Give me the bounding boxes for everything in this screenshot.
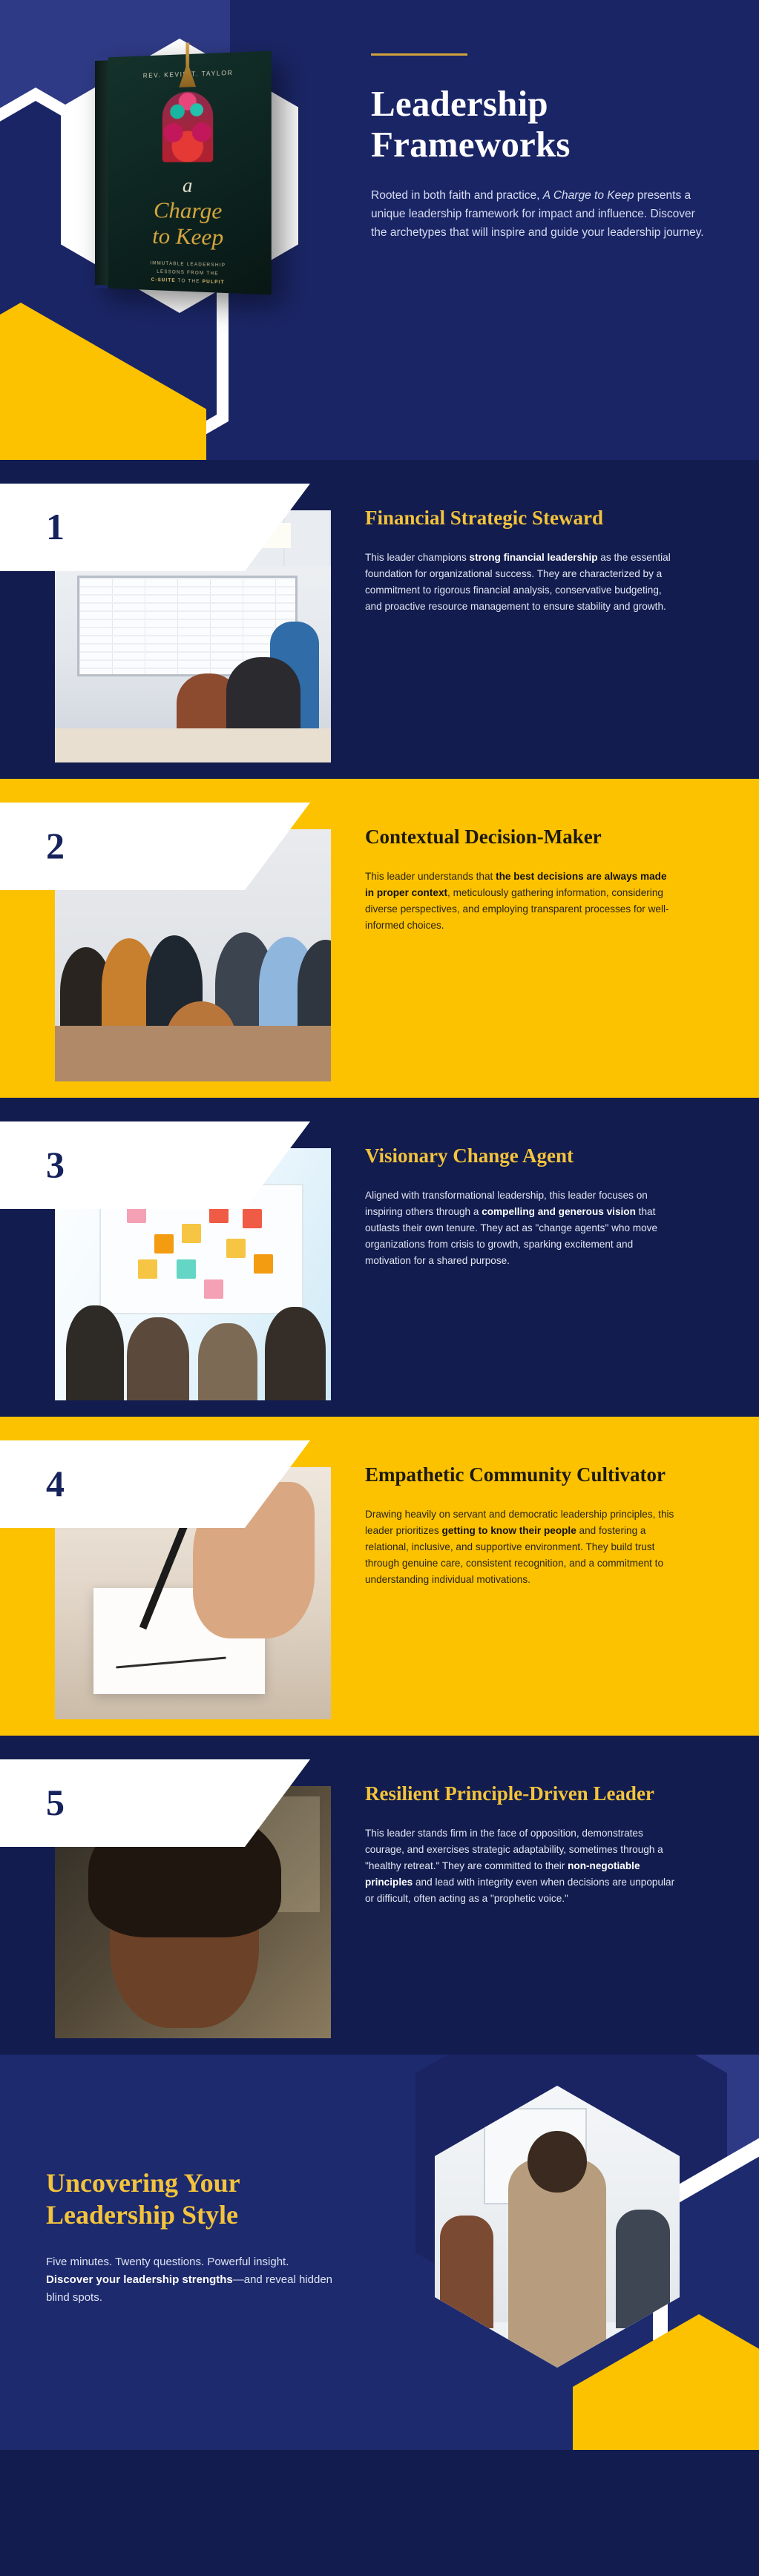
section-4-body: Drawing heavily on servant and democrati… (365, 1506, 677, 1588)
book-subtitle-csuite: C-SUITE (151, 277, 176, 283)
footer-body-pre: Five minutes. Twenty questions. Powerful… (46, 2256, 289, 2268)
book-title-line-1: Charge (154, 199, 222, 224)
book-subtitle-pulpit: PULPIT (203, 280, 225, 285)
footer-cta-section: Uncovering Your Leadership Style Five mi… (0, 2055, 759, 2450)
section-1-visual: 1 (0, 460, 349, 779)
page-title: Leadership Frameworks (371, 84, 720, 165)
section-2-number: 2 (46, 827, 65, 864)
section-4-visual: 4 (0, 1417, 349, 1736)
section-1-number: 1 (46, 508, 65, 545)
section-2-body: This leader understands that the best de… (365, 869, 677, 934)
footer-body-emphasis: Discover your leadership strengths (46, 2273, 233, 2286)
book-subtitle-line-1: IMMUTABLE LEADERSHIP (150, 261, 226, 268)
book-title-line-2: to Keep (152, 224, 223, 250)
hero-text-column: Leadership Frameworks Rooted in both fai… (371, 53, 720, 242)
section-2-body-pre: This leader understands that (365, 871, 496, 882)
book-subtitle-connector: TO THE (176, 278, 203, 284)
section-5-body: This leader stands firm in the face of o… (365, 1825, 677, 1907)
section-5-number: 5 (46, 1784, 65, 1821)
framework-section-1: 1 Financial Strategic Steward This leade… (0, 460, 759, 779)
hero-lead-paragraph: Rooted in both faith and practice, A Cha… (371, 186, 706, 242)
section-4-content: Empathetic Community Cultivator Drawing … (349, 1417, 759, 1736)
framework-section-3: 3 Visionary Change Agent Aligned with tr… (0, 1098, 759, 1417)
footer-title: Uncovering Your Leadership Style (46, 2167, 365, 2231)
book-title-article: a (183, 174, 192, 197)
section-3-visual: 3 (0, 1098, 349, 1417)
section-2-content: Contextual Decision-Maker This leader un… (349, 779, 759, 1098)
section-3-body: Aligned with transformational leadership… (365, 1187, 677, 1269)
section-3-number: 3 (46, 1146, 65, 1183)
hero-lead-book-title: A Charge to Keep (543, 189, 634, 202)
footer-text-column: Uncovering Your Leadership Style Five mi… (46, 2167, 365, 2307)
framework-section-2: 2 Contextual Decision-Maker This leader … (0, 779, 759, 1098)
book-cover-image: REV. KEVIN T. TAYLOR a Charge to Keep IM… (95, 51, 272, 295)
hero-section: REV. KEVIN T. TAYLOR a Charge to Keep IM… (0, 0, 759, 460)
book-subtitle: IMMUTABLE LEADERSHIP LESSONS FROM THE C-… (150, 260, 226, 287)
footer-body: Five minutes. Twenty questions. Powerful… (46, 2253, 337, 2307)
stained-glass-icon (162, 91, 213, 162)
section-3-title: Visionary Change Agent (365, 1144, 714, 1168)
section-3-content: Visionary Change Agent Aligned with tran… (349, 1098, 759, 1417)
section-3-body-emphasis: compelling and generous vision (482, 1206, 636, 1217)
section-5-title: Resilient Principle-Driven Leader (365, 1782, 714, 1806)
section-1-body: This leader champions strong financial l… (365, 550, 677, 615)
section-1-title: Financial Strategic Steward (365, 506, 714, 530)
framework-section-4: 4 Empathetic Community Cultivator Drawin… (0, 1417, 759, 1736)
gold-rule-divider (371, 53, 467, 56)
section-4-body-emphasis: getting to know their people (442, 1525, 576, 1536)
section-1-body-emphasis: strong financial leadership (470, 552, 598, 563)
section-1-content: Financial Strategic Steward This leader … (349, 460, 759, 779)
section-5-visual: 5 (0, 1736, 349, 2055)
book-front-face: REV. KEVIN T. TAYLOR a Charge to Keep IM… (108, 51, 272, 295)
hero-lead-pre: Rooted in both faith and practice, (371, 189, 543, 202)
section-2-title: Contextual Decision-Maker (365, 825, 714, 849)
infographic-page: REV. KEVIN T. TAYLOR a Charge to Keep IM… (0, 0, 759, 2576)
framework-section-5: 5 Resilient Principle-Driven Leader This… (0, 1736, 759, 2055)
section-5-content: Resilient Principle-Driven Leader This l… (349, 1736, 759, 2055)
section-4-number: 4 (46, 1465, 65, 1502)
section-1-body-pre: This leader champions (365, 552, 470, 563)
section-2-visual: 2 (0, 779, 349, 1098)
book-subtitle-line-2: LESSONS FROM THE (157, 270, 218, 277)
section-4-title: Empathetic Community Cultivator (365, 1463, 714, 1487)
